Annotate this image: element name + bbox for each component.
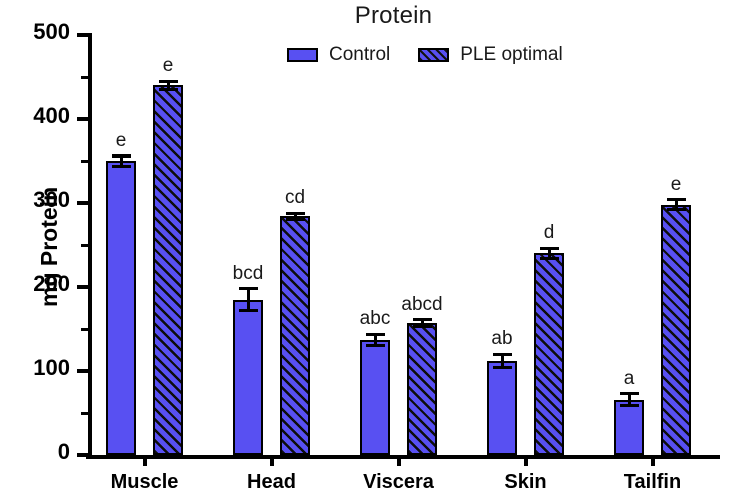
x-tick xyxy=(270,455,274,466)
y-tick-label: 500 xyxy=(10,19,70,45)
y-tick-major xyxy=(77,453,88,457)
y-tick-major xyxy=(77,117,88,121)
error-bar-cap-top xyxy=(286,212,305,215)
y-tick-minor xyxy=(81,412,88,415)
chart-title: Protein xyxy=(0,2,735,30)
significance-label: a xyxy=(624,368,635,390)
x-axis-line xyxy=(86,455,720,459)
error-bar-cap-bottom xyxy=(667,208,686,211)
error-bar-cap-bottom xyxy=(413,325,432,328)
error-bar-cap-top xyxy=(413,318,432,321)
y-tick-label: 400 xyxy=(10,103,70,129)
significance-label: abcd xyxy=(401,294,442,316)
bar-head-control[interactable] xyxy=(233,300,263,455)
error-bar-cap-bottom xyxy=(540,257,559,260)
significance-label: bcd xyxy=(233,263,264,285)
chart-title-text: Protein xyxy=(355,2,432,30)
y-tick-label: 300 xyxy=(10,187,70,213)
error-bar-cap-bottom xyxy=(159,88,178,91)
bar-muscle-control[interactable] xyxy=(106,161,136,455)
y-tick-minor xyxy=(81,160,88,163)
y-axis-line xyxy=(88,33,92,457)
error-bar-cap-bottom xyxy=(620,404,639,407)
y-tick-major xyxy=(77,369,88,373)
error-bar-cap-bottom xyxy=(112,165,131,168)
bar-viscera-control[interactable] xyxy=(360,340,390,455)
error-bar-cap-top xyxy=(667,198,686,201)
bar-head-ple-optimal[interactable] xyxy=(280,216,310,455)
significance-label: abc xyxy=(360,308,391,330)
x-tick xyxy=(651,455,655,466)
y-tick-label: 200 xyxy=(10,271,70,297)
y-tick-label: 0 xyxy=(10,439,70,465)
bar-viscera-ple-optimal[interactable] xyxy=(407,323,437,455)
y-tick-minor xyxy=(81,76,88,79)
bar-skin-ple-optimal[interactable] xyxy=(534,253,564,455)
error-bar-cap-bottom xyxy=(366,344,385,347)
significance-label: ab xyxy=(491,328,512,350)
error-bar xyxy=(247,289,250,311)
bar-skin-control[interactable] xyxy=(487,361,517,455)
error-bar-cap-top xyxy=(112,154,131,157)
significance-label: e xyxy=(671,174,682,196)
error-bar-cap-bottom xyxy=(286,218,305,221)
y-tick-major xyxy=(77,33,88,37)
y-tick-minor xyxy=(81,328,88,331)
significance-label: d xyxy=(544,222,555,244)
error-bar-cap-top xyxy=(493,353,512,356)
y-tick-major xyxy=(77,201,88,205)
error-bar-cap-top xyxy=(239,287,258,290)
x-tick xyxy=(397,455,401,466)
y-tick-label: 100 xyxy=(10,355,70,381)
error-bar-cap-top xyxy=(159,80,178,83)
significance-label: e xyxy=(116,130,127,152)
significance-label: e xyxy=(163,55,174,77)
error-bar-cap-top xyxy=(620,392,639,395)
bar-muscle-ple-optimal[interactable] xyxy=(153,85,183,455)
bar-tailfin-control[interactable] xyxy=(614,400,644,455)
plot-area: mg Protein 0100200300400500MuscleeeHeadb… xyxy=(88,35,718,455)
error-bar-cap-top xyxy=(366,333,385,336)
protein-bar-chart: Protein Control PLE optimal mg Protein 0… xyxy=(0,0,735,491)
significance-label: cd xyxy=(285,187,305,209)
error-bar-cap-top xyxy=(540,247,559,250)
x-tick xyxy=(143,455,147,466)
x-tick xyxy=(524,455,528,466)
error-bar-cap-bottom xyxy=(239,309,258,312)
y-tick-minor xyxy=(81,244,88,247)
y-tick-major xyxy=(77,285,88,289)
bar-tailfin-ple-optimal[interactable] xyxy=(661,205,691,455)
error-bar-cap-bottom xyxy=(493,366,512,369)
